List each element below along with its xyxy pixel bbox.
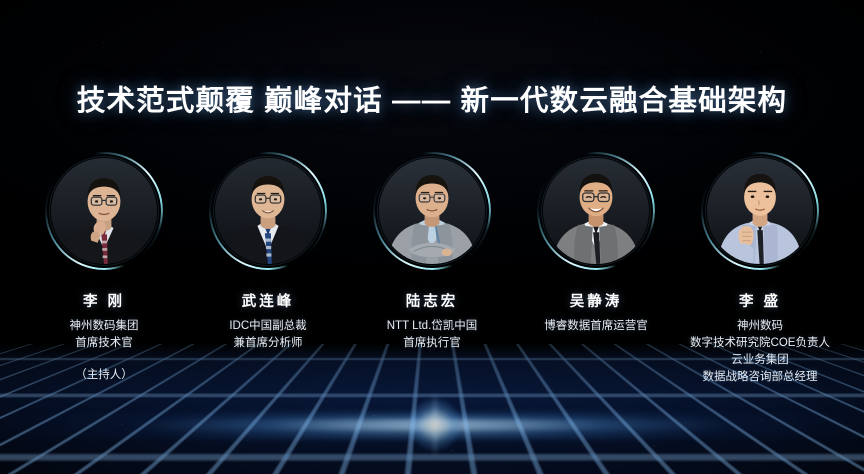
- speaker-list: 李 刚 神州数码集团 首席技术官 （主持人）: [0, 152, 864, 386]
- speaker-title-line: 博睿数据首席运营官: [544, 318, 648, 335]
- avatar: [209, 152, 327, 270]
- avatar: [45, 152, 163, 270]
- speaker-name: 陆志宏: [406, 290, 459, 311]
- speaker-titles: 神州数码 数字技术研究院COE负责人 云业务集团 数据战略咨询部总经理: [690, 318, 830, 386]
- speaker-title-line: NTT Ltd.岱凯中国: [387, 318, 478, 335]
- speaker-card: 武连峰 IDC中国副总裁 兼首席分析师: [186, 152, 350, 352]
- speaker-title-line: 神州数码集团: [70, 318, 139, 335]
- speaker-role: （主持人）: [75, 366, 133, 382]
- speaker-card: 吴静涛 博睿数据首席运营官: [514, 152, 678, 335]
- avatar-glow-ring: [209, 152, 327, 270]
- speaker-name: 吴静涛: [570, 290, 623, 311]
- speaker-title-line: 神州数码: [690, 318, 830, 335]
- avatar: [701, 152, 819, 270]
- avatar-glow-ring: [373, 152, 491, 270]
- speaker-titles: 神州数码集团 首席技术官: [70, 318, 139, 352]
- speaker-name: 李 刚: [83, 290, 125, 311]
- slide-title: 技术范式颠覆 巅峰对话 —— 新一代数云融合基础架构: [0, 78, 864, 119]
- speaker-title-line: 数字技术研究院COE负责人: [690, 335, 830, 352]
- avatar-glow-ring: [701, 152, 819, 270]
- avatar: [373, 152, 491, 270]
- burst-core: [409, 399, 461, 451]
- presentation-slide: 技术范式颠覆 巅峰对话 —— 新一代数云融合基础架构: [0, 0, 864, 474]
- speaker-title-line: 首席执行官: [387, 335, 478, 352]
- speaker-title-line: IDC中国副总裁: [229, 318, 306, 335]
- speaker-card: 李 盛 神州数码 数字技术研究院COE负责人 云业务集团 数据战略咨询部总经理: [678, 152, 842, 386]
- speaker-titles: IDC中国副总裁 兼首席分析师: [229, 318, 306, 352]
- speaker-titles: NTT Ltd.岱凯中国 首席执行官: [387, 318, 478, 352]
- speaker-name: 李 盛: [739, 290, 781, 311]
- avatar: [537, 152, 655, 270]
- speaker-title-line: 数据战略咨询部总经理: [690, 369, 830, 386]
- speaker-titles: 博睿数据首席运营官: [544, 318, 648, 335]
- speaker-name: 武连峰: [242, 290, 295, 311]
- speaker-title-line: 兼首席分析师: [229, 335, 306, 352]
- avatar-glow-ring: [537, 152, 655, 270]
- speaker-title-line: 首席技术官: [70, 335, 139, 352]
- avatar-glow-ring: [45, 152, 163, 270]
- speaker-card: 李 刚 神州数码集团 首席技术官 （主持人）: [22, 152, 186, 382]
- speaker-card: 陆志宏 NTT Ltd.岱凯中国 首席执行官: [350, 152, 514, 352]
- speaker-title-line: 云业务集团: [690, 352, 830, 369]
